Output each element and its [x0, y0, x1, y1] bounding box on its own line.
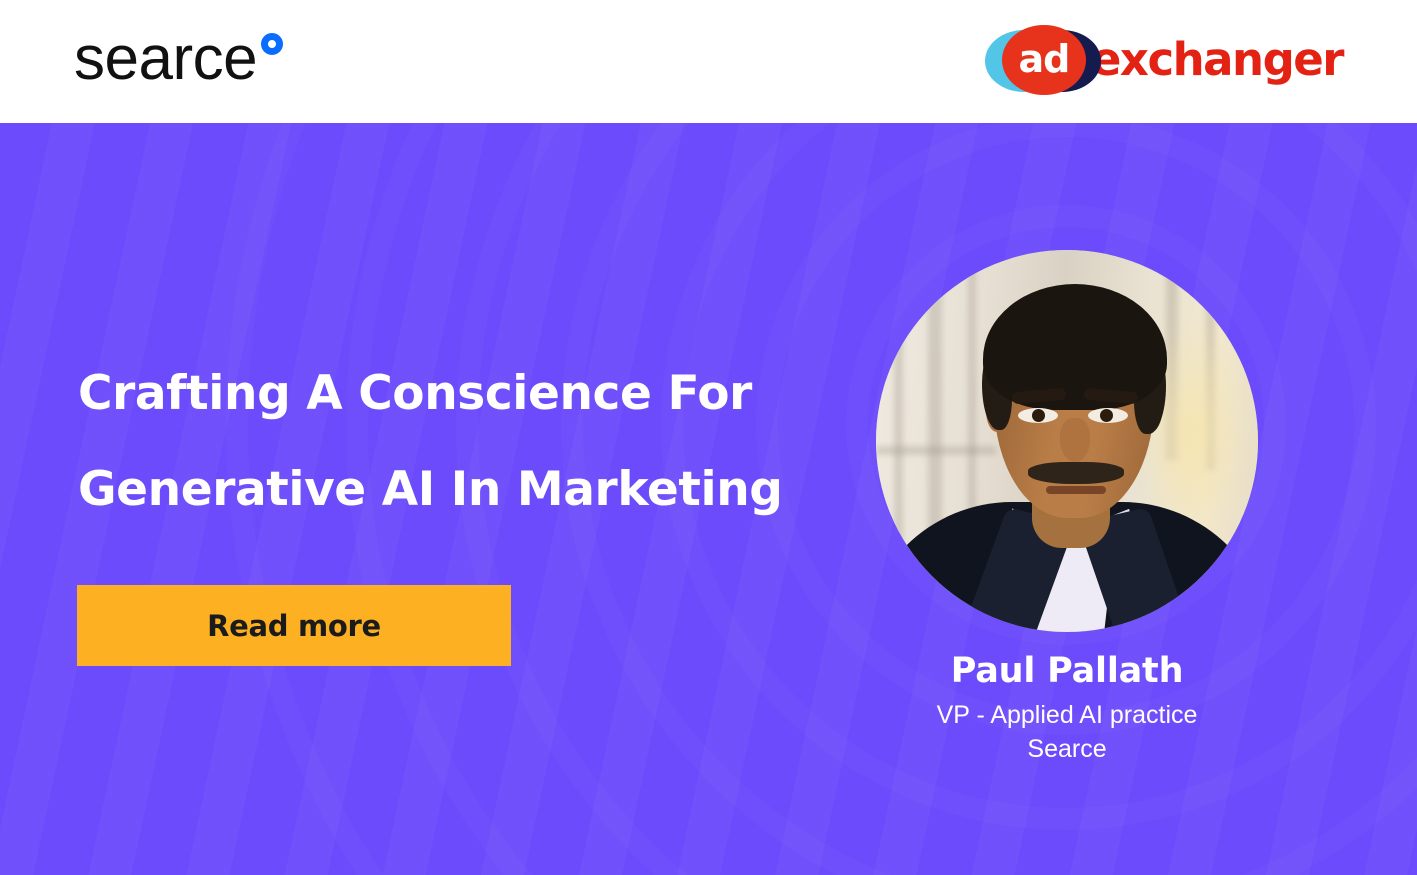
speaker-name: Paul Pallath — [806, 648, 1328, 694]
speaker-mustache — [1028, 462, 1124, 484]
photo-backdrop-detail — [894, 290, 903, 590]
circle-ring-icon — [261, 33, 283, 55]
adexchanger-mark-text: ad — [1018, 40, 1069, 78]
promotional-banner: searce ad exchanger Crafting A Conscienc… — [0, 0, 1417, 875]
hero-title-line-2: Generative AI In Marketing — [78, 442, 838, 538]
searce-logo[interactable]: searce — [74, 28, 283, 90]
speaker-nose — [1060, 418, 1090, 462]
adexchanger-mark-icon: ad — [985, 24, 1105, 96]
hero-title: Crafting A Conscience For Generative AI … — [78, 346, 838, 538]
speaker-photo — [876, 250, 1258, 632]
adexchanger-logo[interactable]: ad exchanger — [985, 24, 1343, 96]
photo-backdrop-detail — [876, 446, 996, 455]
speaker-details: Paul Pallath VP - Applied AI practice Se… — [806, 648, 1328, 766]
speaker-mouth — [1046, 486, 1106, 494]
hero-section: Crafting A Conscience For Generative AI … — [0, 123, 1417, 875]
header-bar: searce ad exchanger — [0, 0, 1417, 123]
speaker-role: VP - Applied AI practice — [806, 698, 1328, 732]
red-circle-icon: ad — [1002, 25, 1086, 95]
read-more-button[interactable]: Read more — [77, 585, 511, 666]
read-more-button-label: Read more — [207, 609, 381, 643]
speaker-pupil-right — [1100, 409, 1113, 422]
hero-title-line-1: Crafting A Conscience For — [78, 346, 838, 442]
speaker-organization: Searce — [806, 732, 1328, 766]
adexchanger-wordmark: exchanger — [1091, 34, 1343, 86]
speaker-pupil-left — [1032, 409, 1045, 422]
searce-wordmark: searce — [74, 28, 257, 90]
speaker-avatar — [876, 250, 1258, 632]
